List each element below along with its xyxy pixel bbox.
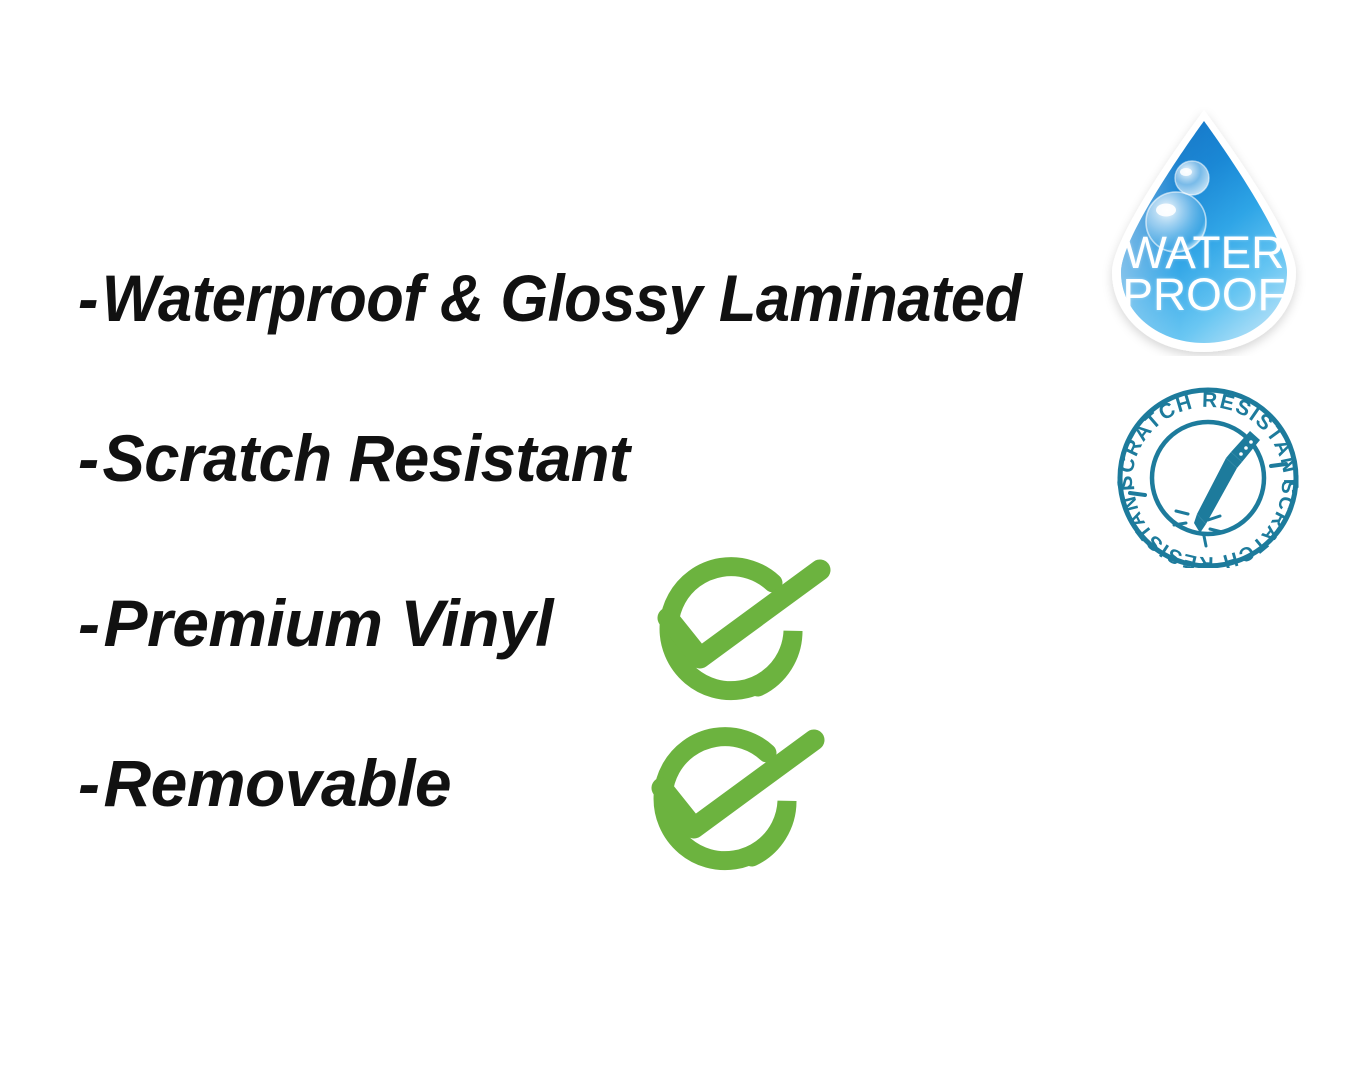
check-circle-removable <box>632 726 832 876</box>
feature-label: Waterproof & Glossy Laminated <box>102 261 1022 335</box>
feature-label: Scratch Resistant <box>102 421 629 495</box>
feature-item-removable: -Removable <box>78 750 451 816</box>
waterproof-badge: WATER PROOF <box>1088 104 1320 356</box>
feature-bullet-dash: - <box>78 425 99 491</box>
promo-feature-graphic: -Waterproof & Glossy Laminated -Scratch … <box>0 0 1359 1080</box>
feature-item-premium-vinyl: -Premium Vinyl <box>78 590 553 656</box>
feature-item-scratch-resistant: -Scratch Resistant <box>78 425 630 491</box>
feature-item-waterproof-glossy-laminated: -Waterproof & Glossy Laminated <box>78 265 1022 331</box>
scratch-resistant-badge: SCRATCH RESISTANT SCRATCH RESISTANT <box>1104 383 1312 568</box>
water-bubble-large-icon <box>1146 192 1206 252</box>
feature-bullet-dash: - <box>78 750 99 816</box>
feature-label: Premium Vinyl <box>103 586 553 660</box>
feature-bullet-dash: - <box>78 265 98 331</box>
check-circle-premium-vinyl <box>638 556 838 706</box>
feature-label: Removable <box>103 746 451 820</box>
feature-bullet-dash: - <box>78 590 99 656</box>
water-bubble-small-icon <box>1175 161 1209 195</box>
stamp-text-top: SCRATCH RESISTANT <box>1114 389 1302 490</box>
